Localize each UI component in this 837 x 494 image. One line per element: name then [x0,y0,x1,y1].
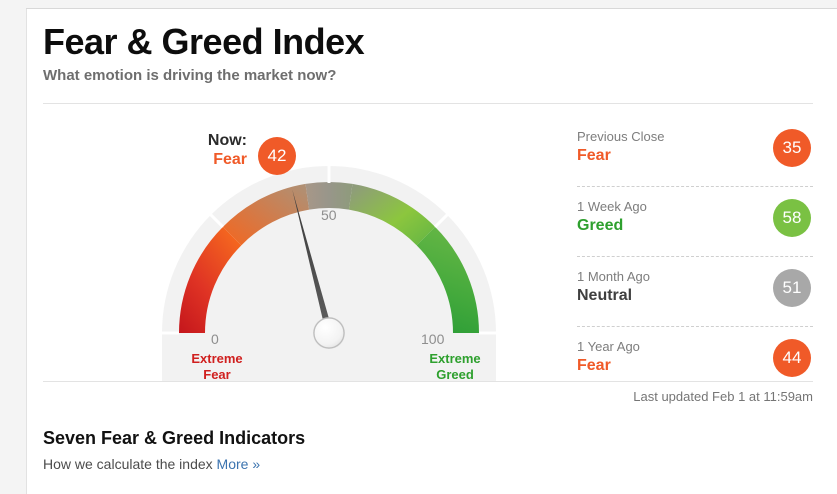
reading-value-bubble: 44 [773,339,811,377]
indicators-description-text: How we calculate the index [43,456,213,472]
gauge-label-extreme-greed: Extreme Greed [405,351,505,383]
reading-value-bubble: 35 [773,129,811,167]
more-link[interactable]: More » [217,456,261,472]
gauge-scale-max: 100 [421,331,444,347]
now-rating: Fear [181,150,247,169]
now-value-bubble: 42 [258,137,296,175]
fear-greed-card: Fear & Greed Index What emotion is drivi… [26,9,837,494]
gauge-hub [314,318,344,348]
now-word: Now: [181,131,247,150]
indicators-section: Seven Fear & Greed Indicators How we cal… [43,427,813,473]
reading-period: 1 Week Ago [577,199,647,215]
gauge-divider [43,381,813,382]
last-updated-text: Last updated Feb 1 at 11:59am [427,389,813,404]
readings-list: Previous Close Fear 35 1 Week Ago Greed … [577,117,813,396]
gauge-scale-mid: 50 [321,207,337,223]
extreme-fear-line2: Fear [203,367,230,382]
reading-value-bubble: 58 [773,199,811,237]
reading-rating: Fear [577,146,611,165]
extreme-greed-line2: Greed [436,367,474,382]
extreme-fear-line1: Extreme [191,351,242,366]
reading-row: Previous Close Fear 35 [577,117,813,187]
reading-row: 1 Week Ago Greed 58 [577,187,813,257]
page-subtitle: What emotion is driving the market now? [43,67,813,85]
card-header: Fear & Greed Index What emotion is drivi… [43,21,813,85]
reading-rating: Fear [577,356,611,375]
now-label: Now: Fear [181,131,247,169]
reading-row: 1 Month Ago Neutral 51 [577,257,813,327]
gauge-label-extreme-fear: Extreme Fear [167,351,267,383]
gauge-scale-min: 0 [211,331,219,347]
gauge-widget: Now: Fear 42 0 50 100 Extreme Fear Extre… [43,109,543,381]
reading-period: 1 Year Ago [577,339,640,355]
reading-rating: Greed [577,216,623,235]
reading-period: 1 Month Ago [577,269,650,285]
indicators-description: How we calculate the index More » [43,455,813,473]
reading-period: Previous Close [577,129,664,145]
reading-rating: Neutral [577,286,632,305]
indicators-title: Seven Fear & Greed Indicators [43,427,813,449]
reading-row: 1 Year Ago Fear 44 [577,327,813,396]
reading-value-bubble: 51 [773,269,811,307]
extreme-greed-line1: Extreme [429,351,480,366]
header-divider [43,103,813,104]
gauge-segment-neutral [306,182,353,210]
page-title: Fear & Greed Index [43,21,813,63]
